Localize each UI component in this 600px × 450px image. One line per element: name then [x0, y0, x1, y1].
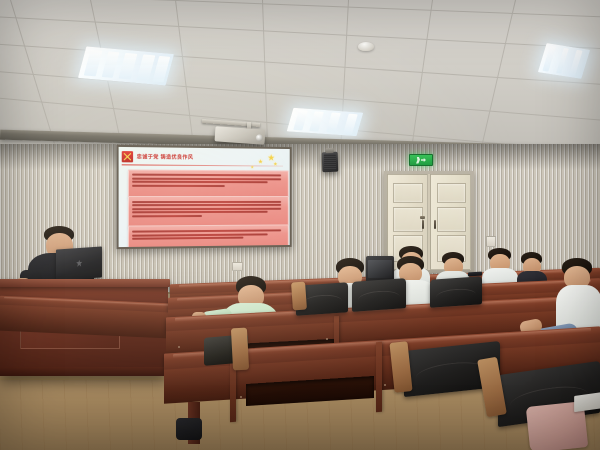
exit-arrow-icon: [421, 158, 426, 163]
wall-outlet-plate-right: [486, 236, 496, 247]
seat-row2-right[interactable]: [430, 278, 482, 314]
slide-content: 忠诚于党 铸造优良作风 ★ ★ ★ ★: [119, 147, 290, 247]
seat-backrest[interactable]: [352, 278, 406, 312]
projector-lens-icon: [256, 134, 263, 141]
slide-paragraph-block: [128, 169, 290, 199]
suspended-tile-ceiling: [0, 0, 600, 150]
seat-armrest[interactable]: [389, 341, 412, 393]
emergency-exit-sign: [409, 154, 433, 166]
party-emblem-icon: [122, 151, 133, 162]
seat-row1-left[interactable]: [204, 336, 248, 392]
ceiling-light-center: [287, 108, 364, 136]
podium-base-trim: [0, 367, 168, 376]
seat-armrest[interactable]: [291, 282, 307, 311]
laptop-logo-icon: [76, 260, 82, 267]
speaker-grille: [324, 154, 337, 170]
seat-armrest[interactable]: [231, 328, 249, 371]
seat-row2-left[interactable]: [296, 284, 348, 320]
slide-paragraph-block: [128, 225, 290, 247]
bench-left-wing: [0, 300, 190, 340]
bench-row-1-divider: [376, 342, 382, 412]
seat-row2-center[interactable]: [352, 280, 406, 316]
podium-top-surface: [0, 279, 170, 287]
slide-header: 忠诚于党 铸造优良作风: [122, 150, 246, 165]
wall-mounted-speaker: [322, 152, 339, 173]
door-handle-left[interactable]: [422, 220, 424, 229]
door-handle-right[interactable]: [434, 220, 436, 229]
slide-title: 忠诚于党 铸造优良作风: [137, 154, 194, 162]
bag-under-bench[interactable]: [176, 418, 202, 440]
door-lock-icon[interactable]: [420, 216, 425, 219]
lecture-hall-photo: 忠诚于党 铸造优良作风 ★ ★ ★ ★: [0, 0, 600, 450]
seat-backrest[interactable]: [430, 276, 482, 308]
speaker-bracket: [326, 148, 333, 153]
projection-screen: 忠诚于党 铸造优良作风 ★ ★ ★ ★: [117, 145, 292, 249]
presenter-laptop[interactable]: [56, 246, 102, 280]
smoke-detector-icon: [358, 42, 374, 51]
wall-top-shadow: [0, 144, 600, 170]
running-person-icon: [416, 157, 420, 164]
wall-outlet-plate-left: [232, 262, 243, 271]
